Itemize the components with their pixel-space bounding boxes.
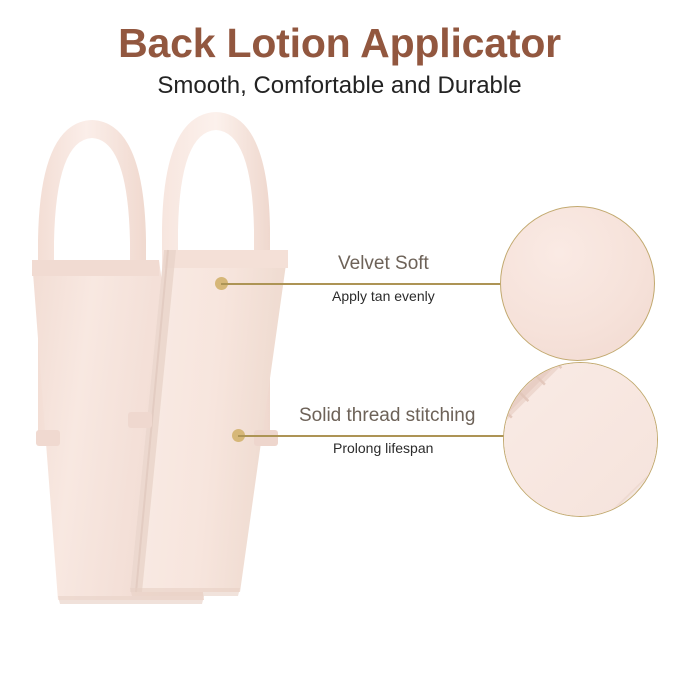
- stitching-illustration: [503, 362, 658, 517]
- page-subtitle: Smooth, Comfortable and Durable: [0, 73, 679, 99]
- detail-circle-stitching: [503, 362, 658, 517]
- product-image: [18, 100, 318, 620]
- callout-sub-velvet-soft: Apply tan evenly: [332, 289, 435, 304]
- callout-line-solid-thread-stitching: [238, 435, 510, 437]
- product-infographic: Back Lotion Applicator Smooth, Comfortab…: [0, 0, 679, 679]
- callout-heading-velvet-soft: Velvet Soft: [338, 254, 429, 275]
- detail-circle-velvet-surface: [500, 206, 655, 361]
- callout-sub-solid-thread-stitching: Prolong lifespan: [333, 441, 433, 456]
- callout-heading-solid-thread-stitching: Solid thread stitching: [299, 406, 475, 427]
- product-illustration: [18, 100, 318, 620]
- callout-line-velvet-soft: [221, 283, 509, 285]
- page-title: Back Lotion Applicator: [0, 22, 679, 65]
